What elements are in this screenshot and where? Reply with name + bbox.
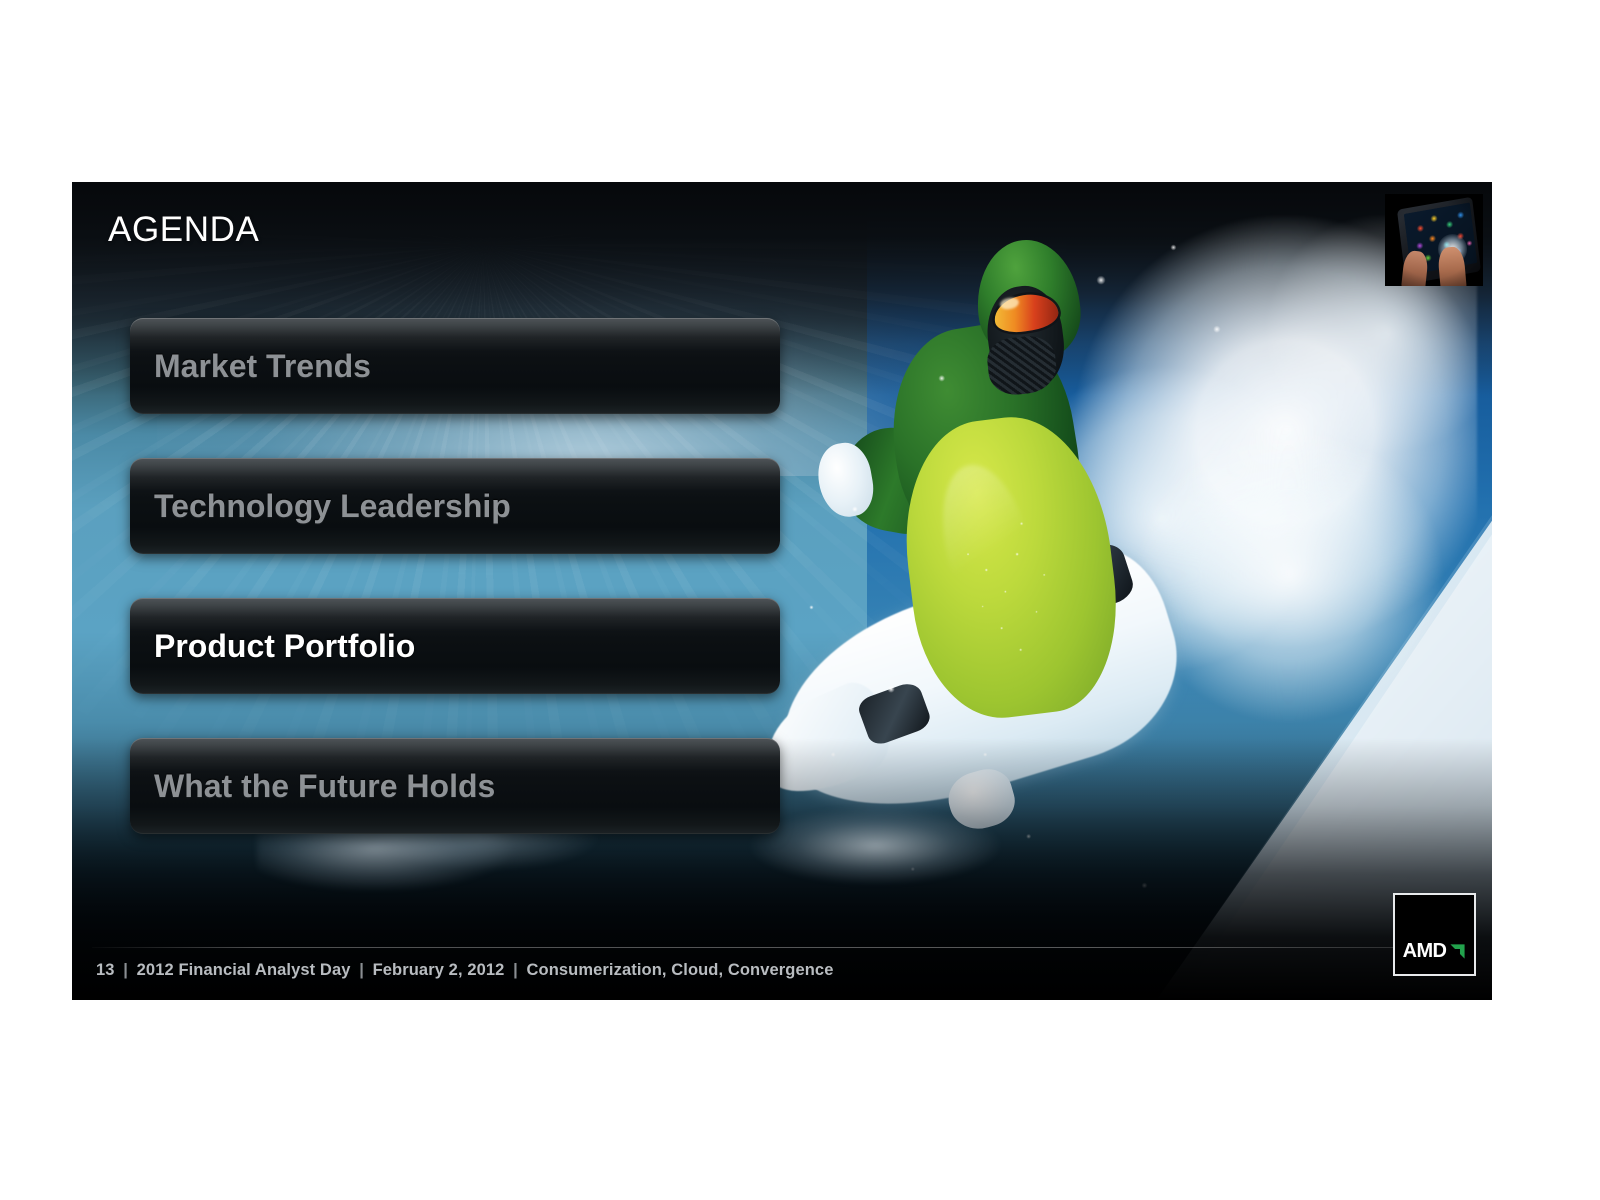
footer-separator: | bbox=[355, 961, 368, 979]
agenda-list: Market Trends Technology Leadership Prod… bbox=[130, 318, 780, 878]
agenda-item-product-portfolio[interactable]: Product Portfolio bbox=[130, 598, 780, 694]
footer-date: February 2, 2012 bbox=[373, 961, 505, 979]
agenda-item-label: What the Future Holds bbox=[130, 768, 495, 805]
footer-text: 13 | 2012 Financial Analyst Day | Februa… bbox=[96, 961, 833, 980]
page-canvas: AGENDA Market Trends Technology Leadersh… bbox=[0, 0, 1600, 1200]
agenda-item-technology-leadership[interactable]: Technology Leadership bbox=[130, 458, 780, 554]
footer-theme: Consumerization, Cloud, Convergence bbox=[527, 961, 834, 979]
amd-arrow-icon bbox=[1449, 943, 1466, 960]
presentation-slide: AGENDA Market Trends Technology Leadersh… bbox=[72, 182, 1492, 1000]
footer-event: 2012 Financial Analyst Day bbox=[137, 961, 351, 979]
tablet-touch-photo bbox=[1385, 194, 1483, 286]
agenda-item-label: Market Trends bbox=[130, 348, 371, 385]
amd-logo: AMD bbox=[1393, 893, 1476, 976]
agenda-item-what-the-future-holds[interactable]: What the Future Holds bbox=[130, 738, 780, 834]
agenda-item-label: Technology Leadership bbox=[130, 488, 511, 525]
agenda-item-label: Product Portfolio bbox=[130, 628, 415, 665]
page-title: AGENDA bbox=[108, 210, 259, 250]
footer-divider bbox=[92, 947, 1472, 948]
agenda-item-market-trends[interactable]: Market Trends bbox=[130, 318, 780, 414]
amd-logo-inner: AMD bbox=[1403, 941, 1467, 961]
amd-wordmark: AMD bbox=[1403, 941, 1447, 961]
footer-separator: | bbox=[509, 961, 522, 979]
footer-page-number: 13 bbox=[96, 961, 115, 979]
footer-separator: | bbox=[119, 961, 132, 979]
